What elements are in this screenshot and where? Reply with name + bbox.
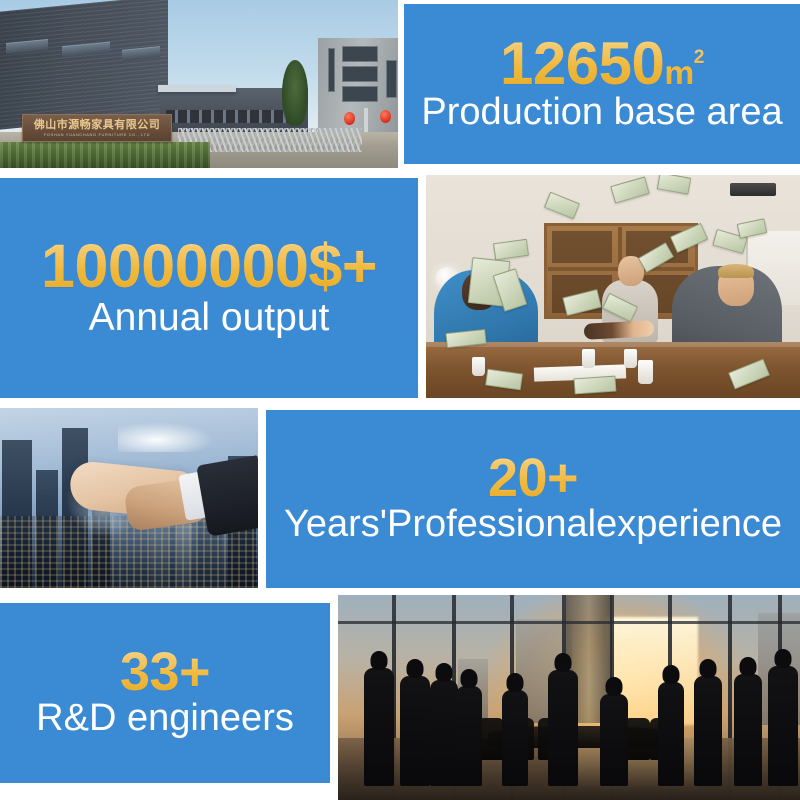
stat-number-years-experience: 20+	[488, 453, 578, 505]
stat-number-production-base-area: 12650m2	[500, 35, 704, 93]
person-silhouette	[658, 682, 684, 786]
photo-factory-exterior: 佛山市源畅家具有限公司 FOSHAN YUANCHANG FURNITURE C…	[0, 0, 398, 168]
stat-card-annual-output: 10000000$+ Annual output	[0, 178, 418, 398]
factory-main-building	[0, 0, 168, 130]
tree	[282, 60, 308, 126]
office-building	[318, 38, 398, 138]
stat-card-production-base-area: 12650m2 Production base area	[404, 4, 800, 164]
person-right-hair	[718, 264, 754, 278]
person-silhouette	[600, 694, 628, 786]
stat-label-rd-engineers: R&D engineers	[36, 699, 294, 739]
silhouette-head	[775, 649, 792, 668]
photo-boardroom-silhouettes	[338, 595, 800, 800]
person-silhouette	[400, 676, 430, 786]
silhouette-head	[407, 659, 424, 678]
stat-card-rd-engineers: 33+ R&D engineers	[0, 603, 330, 783]
silhouette-head	[461, 669, 478, 688]
window	[386, 60, 397, 98]
stat-unit-superscript: 2	[694, 47, 704, 68]
signboard-text-chinese: 佛山市源畅家具有限公司	[34, 120, 161, 131]
silhouette-head	[663, 665, 680, 684]
person-silhouette	[548, 670, 578, 786]
silhouette-head	[740, 657, 757, 676]
stat-value: 12650	[500, 30, 664, 97]
signboard-text-english: FOSHAN YUANCHANG FURNITURE CO., LTD	[44, 133, 150, 137]
silhouette-head	[507, 673, 524, 692]
silhouette-head	[555, 653, 572, 672]
window	[342, 86, 378, 102]
hedge-row	[0, 142, 210, 168]
company-stats-infographic: 佛山市源畅家具有限公司 FOSHAN YUANCHANG FURNITURE C…	[0, 0, 800, 800]
entrance-canopy	[158, 85, 236, 92]
coffee-cup	[582, 349, 595, 368]
red-lantern	[344, 112, 355, 125]
shelf-compartment	[552, 231, 612, 263]
red-lantern	[380, 110, 391, 123]
silhouette-head	[700, 659, 717, 678]
company-signboard: 佛山市源畅家具有限公司 FOSHAN YUANCHANG FURNITURE C…	[22, 114, 172, 142]
window	[342, 66, 378, 82]
stat-card-years-experience: 20+ Years'Professionalexperience	[266, 410, 800, 588]
person-silhouette	[364, 668, 394, 786]
photo-handshake-city-skyline	[0, 408, 258, 588]
silhouette-head	[436, 663, 453, 682]
stat-label-years-experience: Years'Professionalexperience	[284, 505, 782, 545]
stat-number-rd-engineers: 33+	[120, 647, 210, 699]
silhouette-head	[371, 651, 388, 670]
coffee-cup	[624, 349, 637, 368]
person-silhouette	[734, 674, 762, 786]
person-silhouette	[694, 676, 722, 786]
stat-number-annual-output: 10000000$+	[41, 237, 377, 296]
air-conditioner	[730, 183, 776, 196]
stat-label-annual-output: Annual output	[89, 298, 330, 339]
stat-label-production-base-area: Production base area	[421, 93, 782, 133]
window	[328, 48, 335, 92]
coffee-cup	[472, 357, 485, 376]
person-silhouette	[768, 666, 798, 786]
cloud	[118, 422, 214, 452]
stat-unit-square-meter: m	[664, 55, 693, 92]
person-silhouette	[502, 690, 528, 786]
silhouette-head	[606, 677, 623, 696]
coffee-cup	[638, 360, 653, 384]
photo-money-handshake-meeting	[426, 175, 800, 398]
street-lamp	[364, 108, 368, 132]
window	[342, 46, 378, 62]
person-silhouette	[456, 686, 482, 786]
person-silhouette	[430, 680, 458, 786]
flying-dollar-bill	[573, 376, 616, 395]
